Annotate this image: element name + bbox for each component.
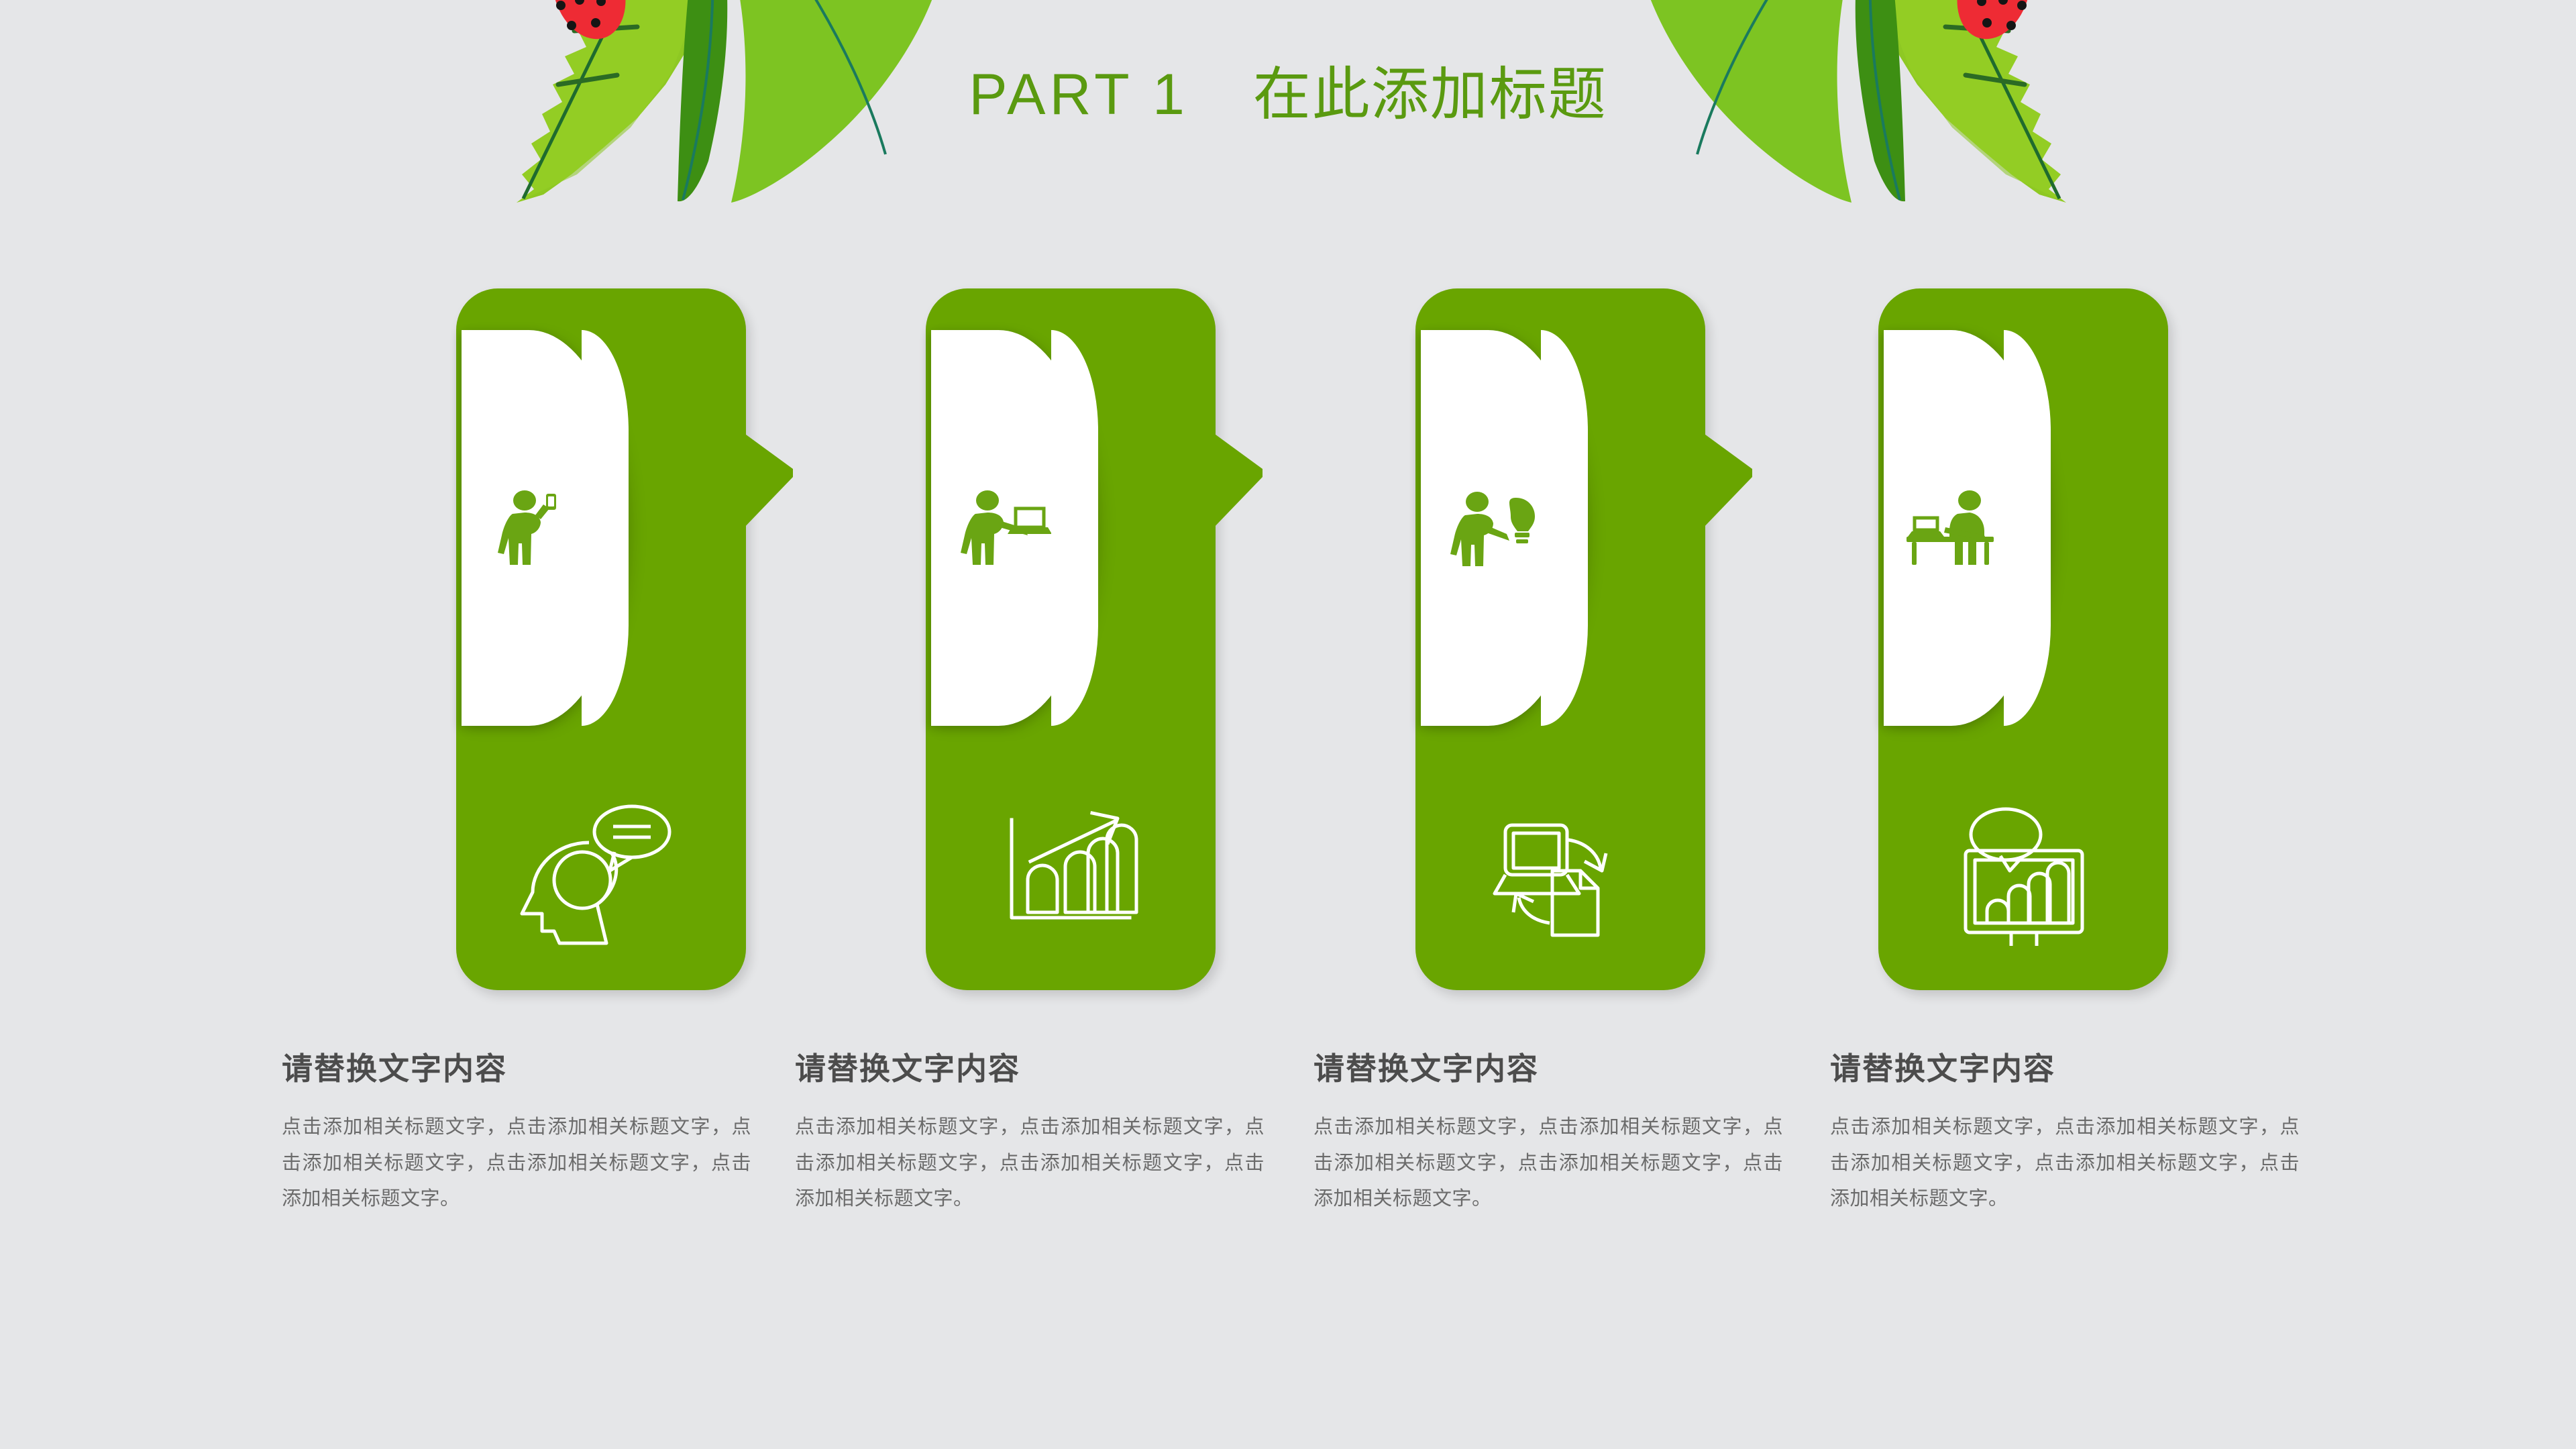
text-column-2: 请替换文字内容 点击添加相关标题文字，点击添加相关标题文字，点击添加相关标题文字… [795,1053,1265,1218]
text-column-1: 请替换文字内容 点击添加相关标题文字，点击添加相关标题文字，点击添加相关标题文字… [282,1053,751,1218]
column-4-body: 点击添加相关标题文字，点击添加相关标题文字，点击添加相关标题文字，点击添加相关标… [1830,1110,2300,1218]
part-label: PART 1 [969,62,1189,127]
card-1-page-panel [462,330,628,726]
column-4-heading: 请替换文字内容 [1830,1053,2300,1084]
card-1[interactable] [456,288,746,990]
person-phone-call-icon [483,486,604,573]
card-4-page-panel [1884,330,2050,726]
card-3-page-panel [1421,330,1587,726]
slide-canvas: PART 1在此添加标题 [0,0,2576,1449]
text-column-4: 请替换文字内容 点击添加相关标题文字，点击添加相关标题文字，点击添加相关标题文字… [1830,1053,2300,1218]
person-holding-lightbulb-icon [1442,486,1563,573]
card-2-arrow-tab [1210,431,1263,531]
person-holding-laptop-icon [953,486,1073,573]
page-title: 在此添加标题 [1253,62,1607,127]
text-column-3: 请替换文字内容 点击添加相关标题文字，点击添加相关标题文字，点击添加相关标题文字… [1313,1053,1783,1218]
card-4[interactable] [1878,288,2168,990]
card-1-arrow-tab [741,431,793,531]
card-2[interactable] [926,288,1216,990]
card-3-arrow-tab [1700,431,1752,531]
person-at-desk-computer-icon [1905,486,2026,573]
head-thinking-speech-bubble-icon [514,798,688,946]
column-2-body: 点击添加相关标题文字，点击添加相关标题文字，点击添加相关标题文字，点击添加相关标… [795,1110,1265,1218]
column-1-heading: 请替换文字内容 [282,1053,751,1084]
slide-title: PART 1在此添加标题 [0,47,2576,131]
text-column-row: 请替换文字内容 点击添加相关标题文字，点击添加相关标题文字，点击添加相关标题文字… [0,1053,2576,1335]
column-3-heading: 请替换文字内容 [1313,1053,1783,1084]
column-1-body: 点击添加相关标题文字，点击添加相关标题文字，点击添加相关标题文字，点击添加相关标… [282,1110,751,1218]
card-2-page-panel [931,330,1097,726]
card-3[interactable] [1415,288,1705,990]
monitor-bar-chart-speech-icon [1936,798,2110,946]
card-row [0,288,2576,1000]
column-3-body: 点击添加相关标题文字，点击添加相关标题文字，点击添加相关标题文字，点击添加相关标… [1313,1110,1783,1218]
laptop-document-sync-icon [1473,798,1648,946]
column-2-heading: 请替换文字内容 [795,1053,1265,1084]
growth-bar-chart-arrow-icon [983,798,1158,946]
